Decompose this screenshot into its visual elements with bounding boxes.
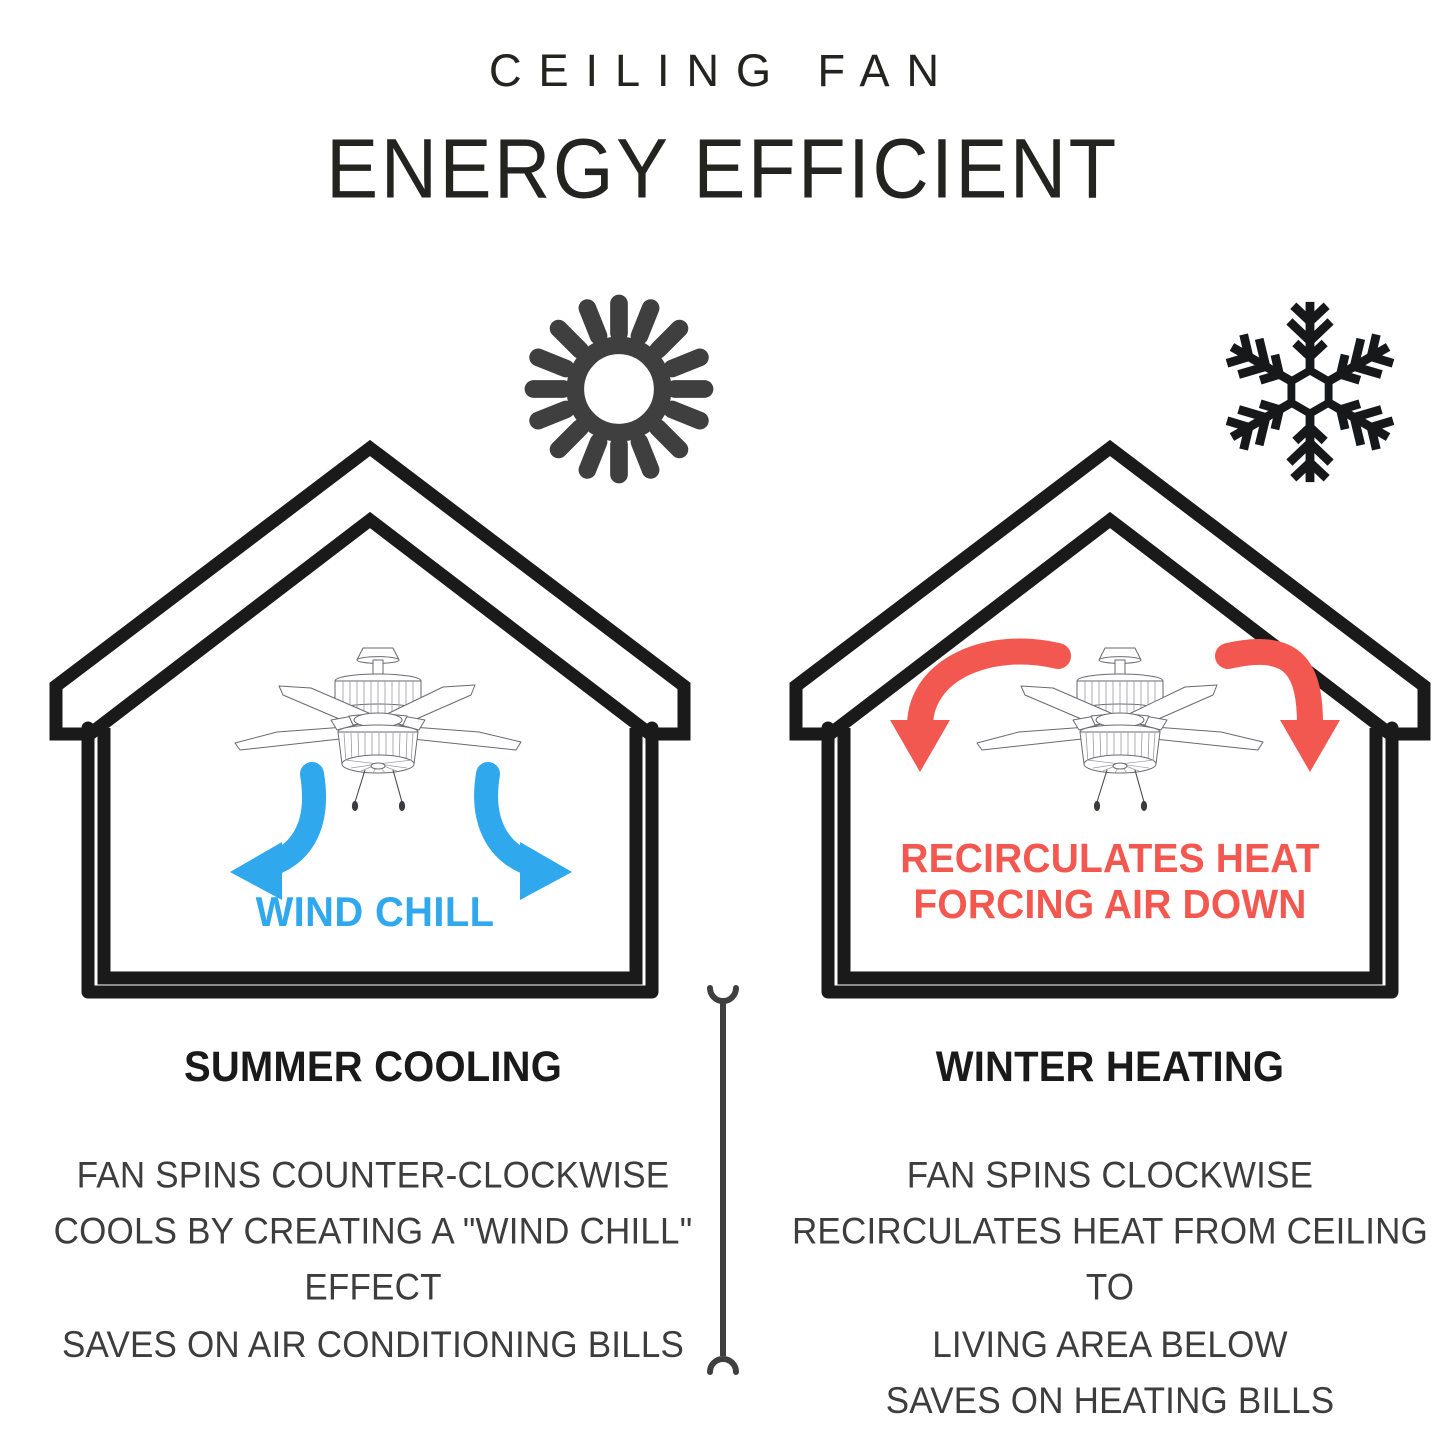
- header: CEILING FAN ENERGY EFFICIENT: [0, 48, 1445, 204]
- column-winter: WINTER HEATING FAN SPINS CLOCKWISE RECIR…: [790, 1046, 1430, 1413]
- column-body-summer: FAN SPINS COUNTER-CLOCKWISE COOLS BY CRE…: [53, 1147, 693, 1373]
- vertical-divider: [698, 984, 748, 1376]
- column-summer: SUMMER COOLING FAN SPINS COUNTER-CLOCKWI…: [53, 1046, 693, 1360]
- airflow-arrows-winter: [880, 630, 1350, 790]
- column-body-winter: FAN SPINS CLOCKWISE RECIRCULATES HEAT FR…: [790, 1147, 1430, 1429]
- recirculates-heat-label: RECIRCULATES HEAT FORCING AIR DOWN: [873, 836, 1348, 928]
- wind-chill-label: WIND CHILL: [142, 888, 608, 935]
- page-title: ENERGY EFFICIENT: [0, 126, 1445, 210]
- infographic-canvas: CEILING FAN ENERGY EFFICIENT: [0, 0, 1445, 1445]
- airflow-arrows-summer: [216, 760, 676, 980]
- column-title-summer: SUMMER COOLING: [75, 1046, 670, 1089]
- column-title-winter: WINTER HEATING: [812, 1046, 1407, 1089]
- eyebrow-title: CEILING FAN: [0, 48, 1445, 93]
